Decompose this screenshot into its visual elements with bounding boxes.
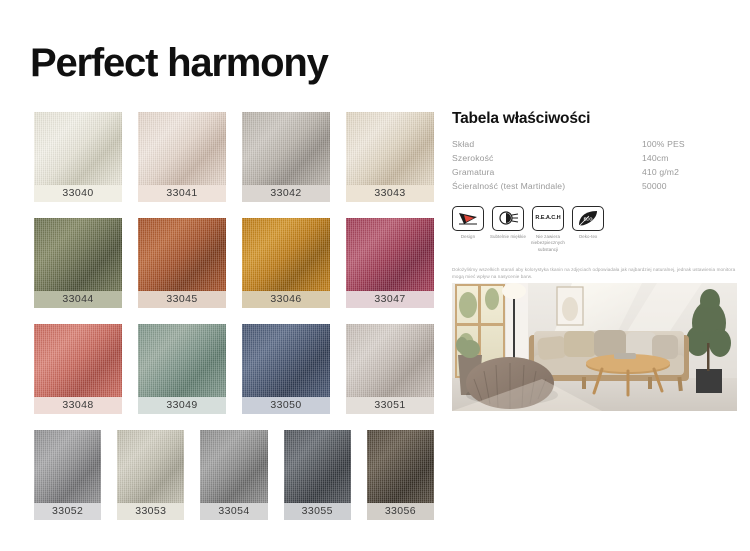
property-value: 100% PES	[638, 139, 738, 153]
interior-living-room-photo	[452, 283, 737, 411]
fabric-texture	[117, 430, 184, 503]
certification-badge: Subtelnie miękkie	[492, 206, 524, 254]
fabric-texture	[34, 324, 122, 397]
swatch-code-label: 33046	[242, 291, 330, 308]
swatch-code-label: 33047	[346, 291, 434, 308]
eco-leaf-icon: ECO	[572, 206, 604, 231]
swatch-code-label: 33044	[34, 291, 122, 308]
page-title: Perfect harmony	[30, 41, 328, 85]
property-row: Gramatura410 g/m2	[452, 167, 738, 181]
swatch-row: 33040330413304233043	[34, 112, 434, 202]
fabric-swatch[interactable]: 33045	[138, 218, 226, 308]
swatch-code-label: 33042	[242, 185, 330, 202]
certification-badge: R.E.A.C.HNie zawiera niebezpiecznych sub…	[532, 206, 564, 254]
property-label: Skład	[452, 139, 638, 153]
swatch-code-label: 33048	[34, 397, 122, 414]
reach-icon: R.E.A.C.H	[532, 206, 564, 231]
property-row: Skład100% PES	[452, 139, 738, 153]
certification-badge: Design	[452, 206, 484, 254]
fabric-texture	[138, 218, 226, 291]
fabric-texture	[284, 430, 351, 503]
properties-panel: Tabela właściwości Skład100% PESSzerokoś…	[452, 110, 738, 303]
badge-caption: Subtelnie miękkie	[488, 234, 528, 241]
fabric-swatch[interactable]: 33047	[346, 218, 434, 308]
fabric-swatch[interactable]: 33056	[367, 430, 434, 520]
properties-table: Skład100% PESSzerokość140cmGramatura410 …	[452, 139, 738, 195]
eco-label: ECO	[584, 217, 593, 222]
property-row: Ścieralność (test Martindale)50000	[452, 181, 738, 195]
property-value: 410 g/m2	[638, 167, 738, 181]
property-label: Ścieralność (test Martindale)	[452, 181, 638, 195]
swatch-code-label: 33045	[138, 291, 226, 308]
fabric-swatch[interactable]: 33053	[117, 430, 184, 520]
reach-label: R.E.A.C.H	[535, 215, 560, 221]
swatch-code-label: 33040	[34, 185, 122, 202]
fabric-texture	[138, 112, 226, 185]
fabric-swatch[interactable]: 33052	[34, 430, 101, 520]
swatch-code-label: 33050	[242, 397, 330, 414]
swatch-code-label: 33053	[117, 503, 184, 520]
fabric-texture	[242, 112, 330, 185]
fabric-swatch[interactable]: 33055	[284, 430, 351, 520]
design-triangle-icon	[452, 206, 484, 231]
fabric-texture	[367, 430, 434, 503]
certification-badge: ECOOeko-tex	[572, 206, 604, 254]
badge-caption: Design	[448, 234, 488, 241]
property-label: Gramatura	[452, 167, 638, 181]
fabric-swatch[interactable]: 33050	[242, 324, 330, 414]
property-label: Szerokość	[452, 153, 638, 167]
fabric-swatch[interactable]: 33051	[346, 324, 434, 414]
swatch-code-label: 33055	[284, 503, 351, 520]
fabric-texture	[242, 218, 330, 291]
fabric-swatch[interactable]: 33042	[242, 112, 330, 202]
fabric-texture	[34, 218, 122, 291]
swatch-code-label: 33051	[346, 397, 434, 414]
property-row: Szerokość140cm	[452, 153, 738, 167]
interior-scene-illustration	[452, 283, 737, 411]
swatch-code-label: 33052	[34, 503, 101, 520]
badge-caption: Nie zawiera niebezpiecznych substancji	[528, 234, 568, 254]
fabric-swatch[interactable]: 33049	[138, 324, 226, 414]
fabric-texture	[242, 324, 330, 397]
swatch-code-label: 33043	[346, 185, 434, 202]
fabric-swatch[interactable]: 33046	[242, 218, 330, 308]
soft-touch-icon	[492, 206, 524, 231]
property-value: 140cm	[638, 153, 738, 167]
fabric-texture	[34, 112, 122, 185]
fabric-swatch[interactable]: 33040	[34, 112, 122, 202]
fabric-swatch[interactable]: 33048	[34, 324, 122, 414]
properties-heading: Tabela właściwości	[452, 110, 738, 128]
badge-caption: Oeko-tex	[568, 234, 608, 241]
certification-badges: DesignSubtelnie miękkieR.E.A.C.HNie zawi…	[452, 206, 738, 254]
swatch-row: 33044330453304633047	[34, 218, 434, 308]
fabric-swatch[interactable]: 33043	[346, 112, 434, 202]
fabric-swatch[interactable]: 33044	[34, 218, 122, 308]
fabric-texture	[346, 324, 434, 397]
disclaimer-paragraph-1: Dołożyliśmy wszelkich starań aby kolorys…	[452, 266, 738, 282]
swatch-row: 3305233053330543305533056	[34, 430, 434, 520]
fabric-collection-page: Perfect harmony 330403304133042330433304…	[0, 0, 750, 551]
swatch-code-label: 33056	[367, 503, 434, 520]
fabric-texture	[346, 218, 434, 291]
fabric-texture	[346, 112, 434, 185]
swatch-code-label: 33049	[138, 397, 226, 414]
swatch-grid: 3304033041330423304333044330453304633047…	[34, 112, 434, 536]
property-value: 50000	[638, 181, 738, 195]
fabric-texture	[34, 430, 101, 503]
fabric-swatch[interactable]: 33041	[138, 112, 226, 202]
swatch-code-label: 33054	[200, 503, 267, 520]
swatch-row: 33048330493305033051	[34, 324, 434, 414]
fabric-texture	[138, 324, 226, 397]
swatch-code-label: 33041	[138, 185, 226, 202]
fabric-texture	[200, 430, 267, 503]
fabric-swatch[interactable]: 33054	[200, 430, 267, 520]
